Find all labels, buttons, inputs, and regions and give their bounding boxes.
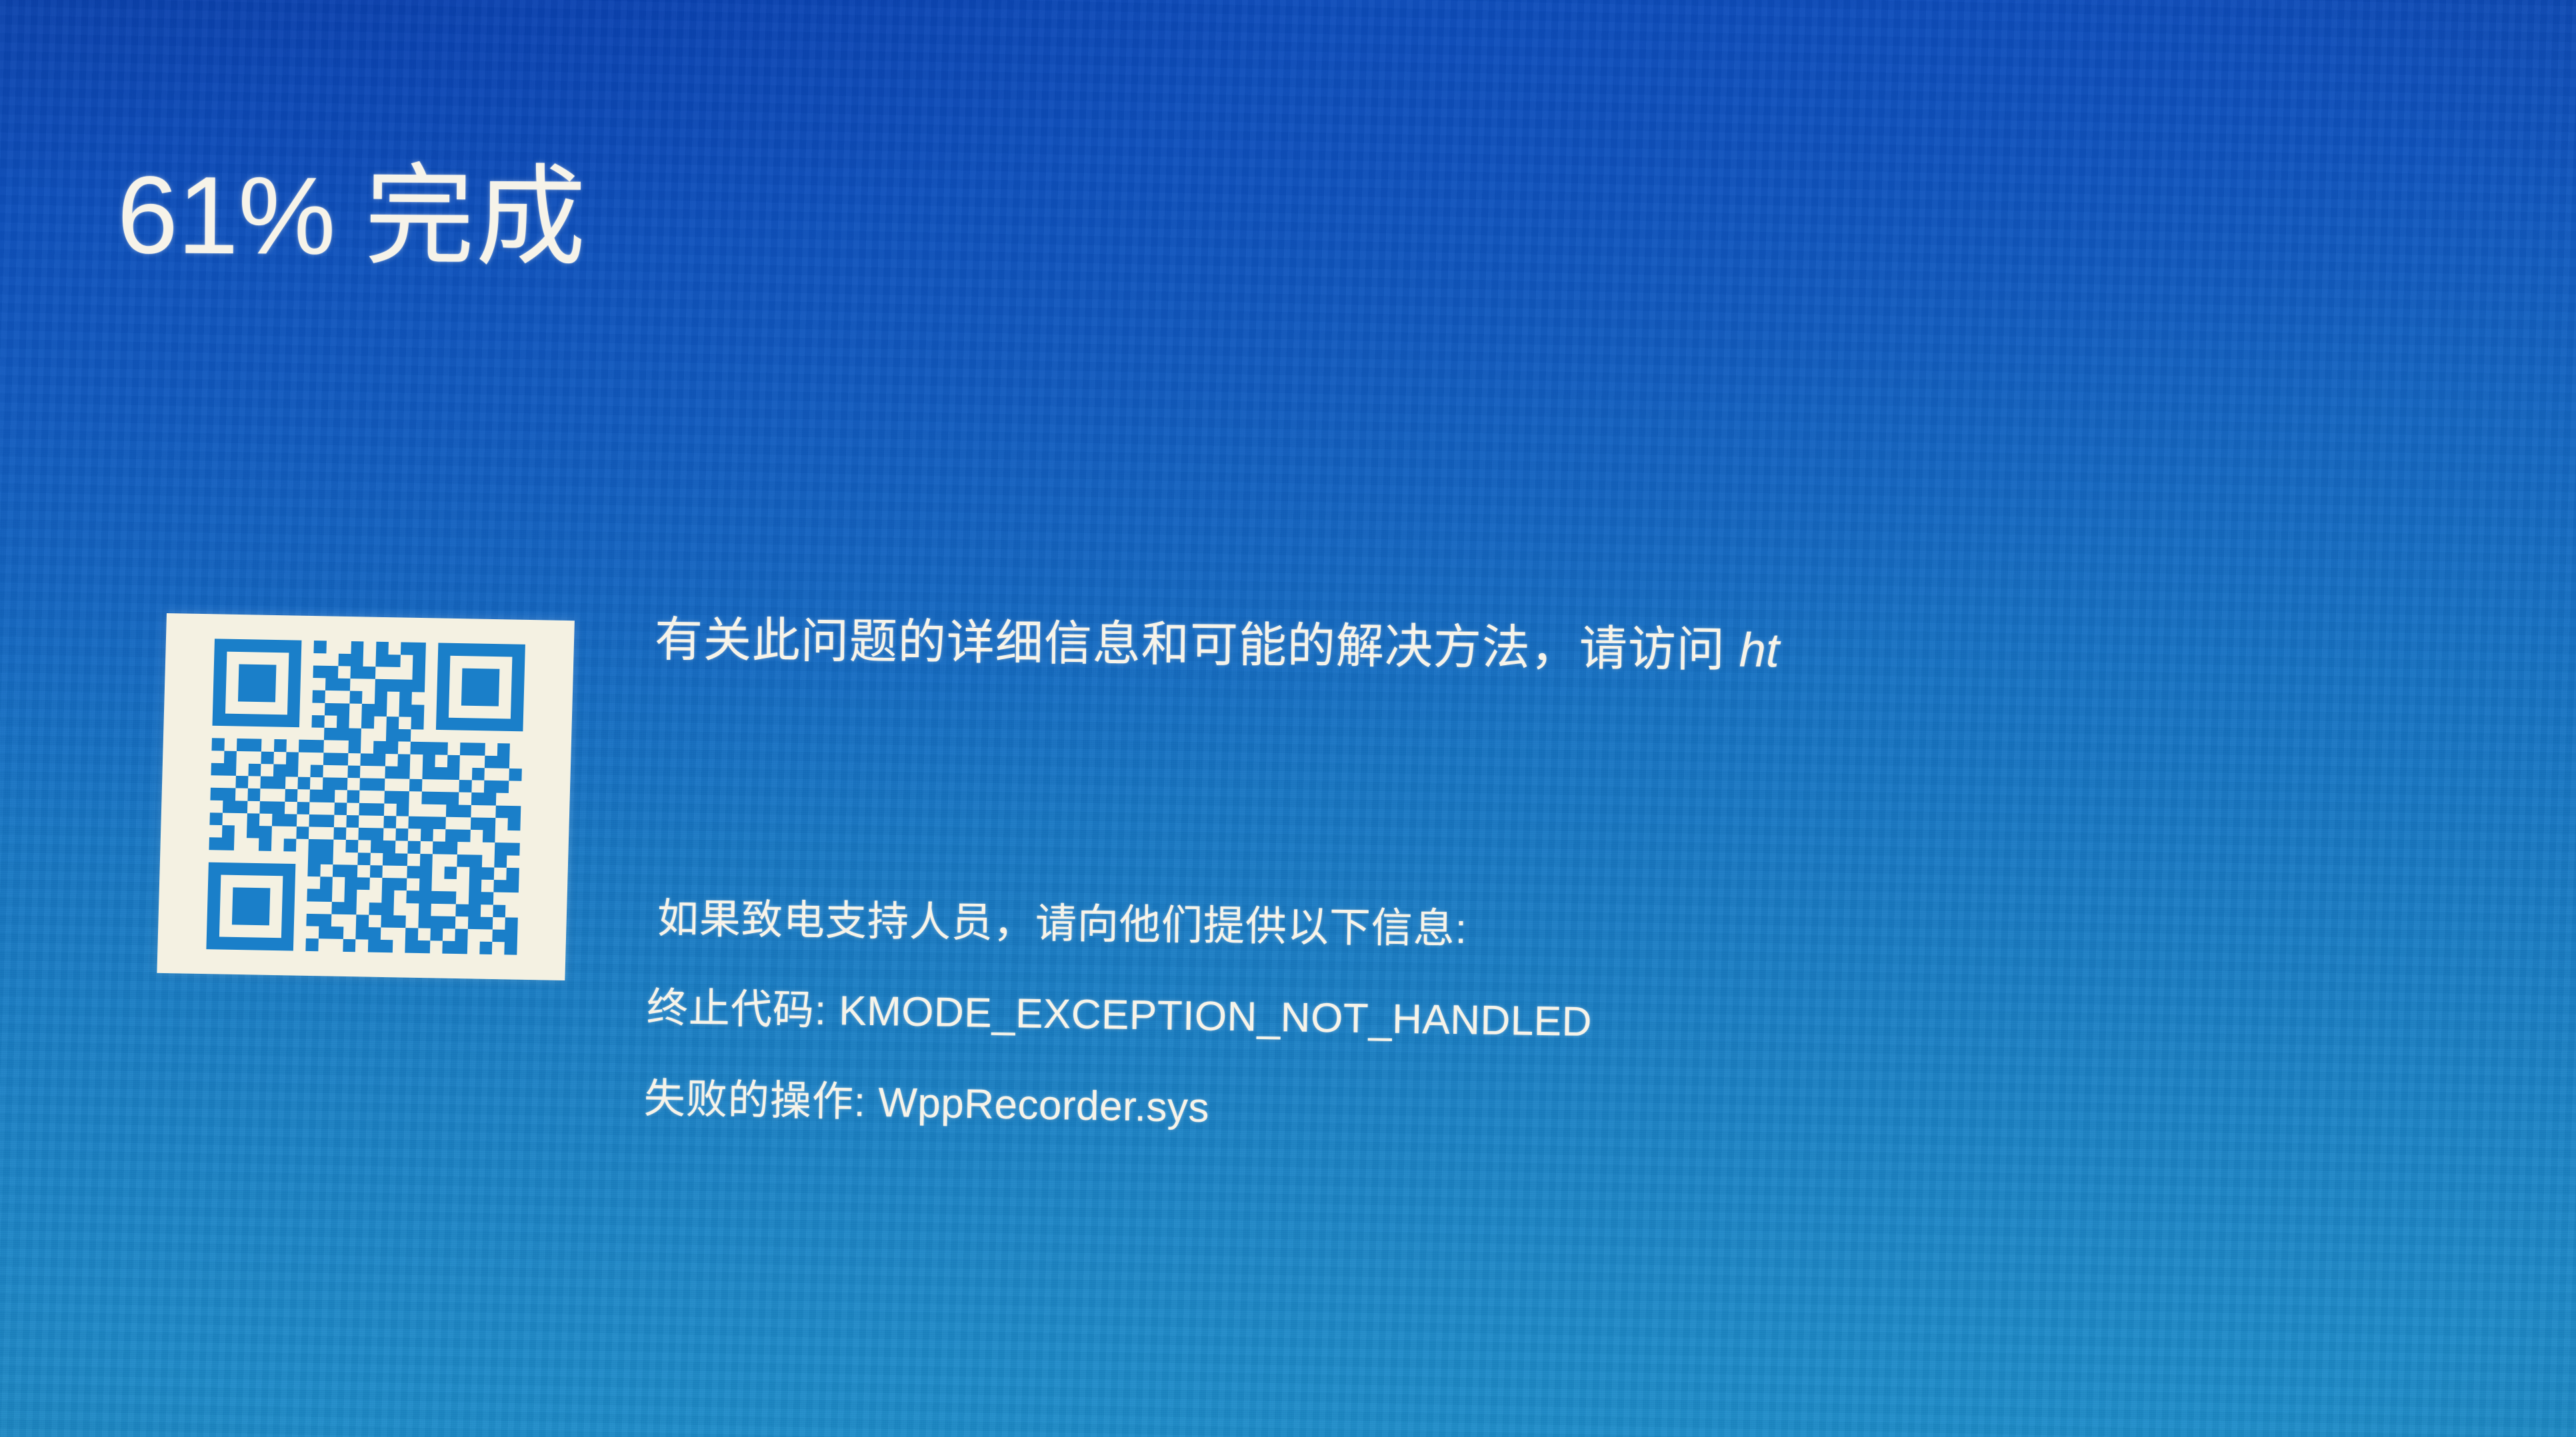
progress-percent: 61% (117, 153, 335, 277)
more-info-line: 有关此问题的详细信息和可能的解决方法，请访问 ht (654, 600, 2576, 689)
stop-code-line: 终止代码: KMODE_EXCEPTION_NOT_HANDLED (646, 974, 2576, 1062)
error-text-block: 有关此问题的详细信息和可能的解决方法，请访问 ht 如果致电支持人员，请向他们提… (620, 600, 2576, 1124)
progress-heading: 61%完成 (117, 157, 587, 276)
support-instruction-line: 如果致电支持人员，请向他们提供以下信息: (657, 884, 2576, 970)
stop-code-value: KMODE_EXCEPTION_NOT_HANDLED (839, 988, 1593, 1045)
bsod-screen: 61%完成 有关此问题的详细信息和可能的解决方法，请访问 ht 如果致电支持人员… (0, 0, 2576, 1437)
failed-action-label: 失败的操作: (643, 1076, 879, 1126)
stop-code-label: 终止代码: (646, 985, 839, 1034)
failed-action-line: 失败的操作: WppRecorder.sys (643, 1064, 2576, 1156)
support-url-text: ht (1739, 624, 1779, 678)
qr-code-container (157, 613, 575, 980)
qr-code (157, 613, 575, 980)
failed-action-value: WppRecorder.sys (878, 1080, 1210, 1131)
progress-status-label: 完成 (364, 155, 587, 279)
more-info-text: 有关此问题的详细信息和可能的解决方法，请访问 (655, 613, 1740, 677)
